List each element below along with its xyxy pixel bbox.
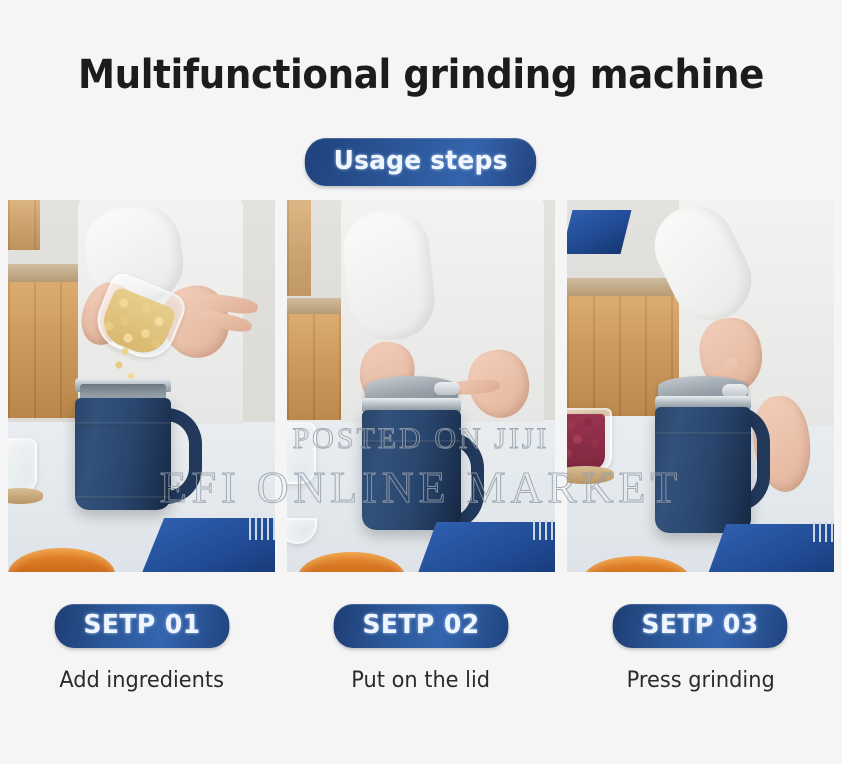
- step-photo-1: [8, 200, 275, 572]
- cloth-fringe: [813, 522, 834, 542]
- step-badge-1: SETP 01: [54, 604, 229, 648]
- product-infographic: { "title": "Multifunctional grinding mac…: [0, 0, 842, 764]
- blue-cloth-on-counter: [567, 210, 631, 254]
- machine-body-ring: [362, 440, 461, 444]
- page-title: Multifunctional grinding machine: [29, 52, 812, 98]
- machine-body-ring-2: [75, 496, 171, 500]
- step-column-3: SETP 03 Press grinding: [567, 604, 834, 693]
- section-badge-container: Usage steps: [0, 138, 842, 186]
- step-badge-2: SETP 02: [334, 604, 509, 648]
- step-column-2: SETP 02 Put on the lid: [287, 604, 554, 693]
- side-glass-cup: [8, 438, 37, 494]
- usage-steps-badge: Usage steps: [305, 138, 537, 186]
- wooden-coaster: [567, 466, 614, 484]
- steps-row: SETP 01 Add ingredients SETP 02 Put on t…: [8, 604, 834, 693]
- step-column-1: SETP 01 Add ingredients: [8, 604, 275, 693]
- side-glass-jar: [287, 422, 316, 484]
- step-badge-3: SETP 03: [613, 604, 788, 648]
- step-photo-2: [287, 200, 554, 572]
- grinding-machine-body: [75, 398, 171, 510]
- step-caption-1: Add ingredients: [15, 668, 269, 693]
- machine-body-ring: [75, 422, 171, 426]
- step-caption-3: Press grinding: [573, 668, 827, 693]
- step-photo-3: [567, 200, 834, 572]
- photo-strip: [8, 200, 834, 572]
- cloth-fringe: [249, 518, 276, 540]
- step-caption-2: Put on the lid: [294, 668, 548, 693]
- grinding-machine-body: [655, 407, 751, 533]
- grinding-machine-body: [362, 410, 461, 530]
- machine-body-ring: [655, 432, 751, 436]
- wooden-cabinet-upper: [8, 200, 40, 250]
- red-beans-in-jar: [567, 414, 605, 470]
- lid-press-button: [434, 382, 460, 395]
- cloth-fringe: [533, 520, 554, 540]
- wooden-cabinet-upper: [287, 200, 311, 296]
